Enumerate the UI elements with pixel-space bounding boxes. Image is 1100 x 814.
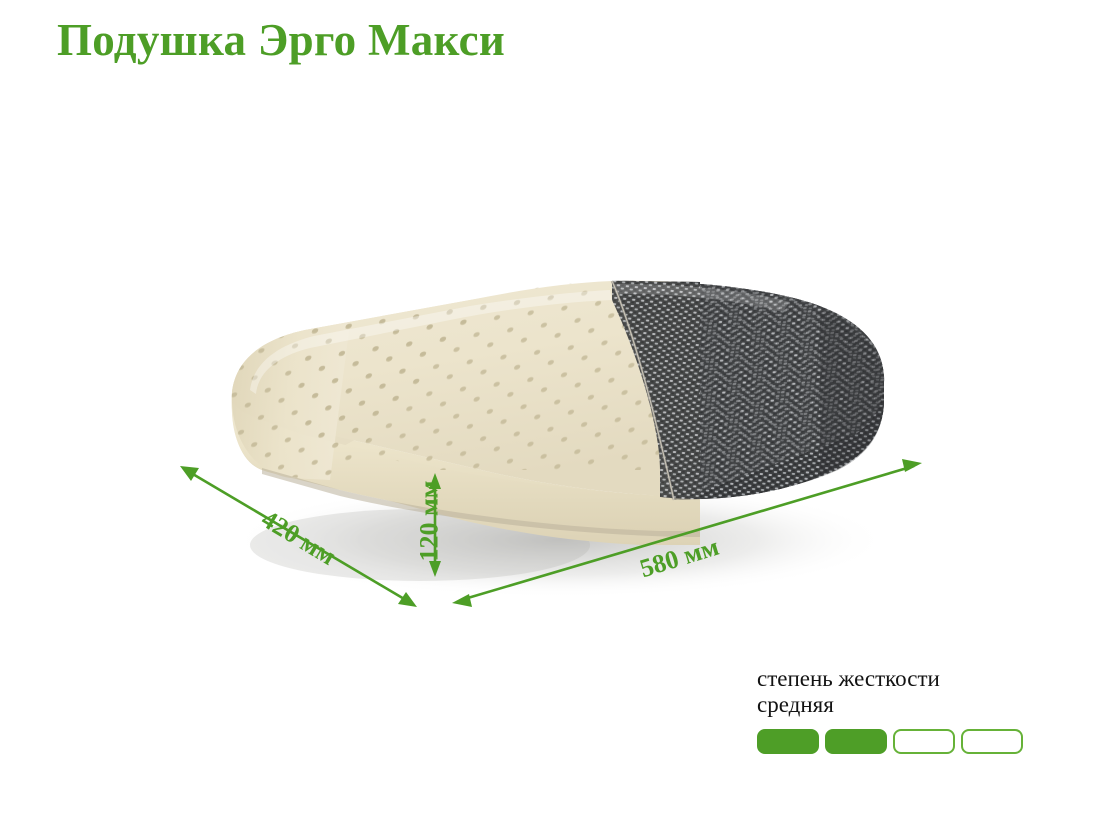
firmness-segment-2 bbox=[825, 729, 887, 754]
firmness-segment-3 bbox=[893, 729, 955, 754]
product-illustration-page: Подушка Эрго Макси bbox=[0, 0, 1100, 814]
firmness-indicator: степень жесткости средняя bbox=[757, 666, 1037, 754]
firmness-segment-4 bbox=[961, 729, 1023, 754]
firmness-segment-1 bbox=[757, 729, 819, 754]
dimension-label-120: 120 мм bbox=[414, 481, 444, 562]
firmness-caption: степень жесткости bbox=[757, 666, 1037, 692]
firmness-value: средняя bbox=[757, 692, 1037, 718]
firmness-scale bbox=[757, 729, 1037, 754]
